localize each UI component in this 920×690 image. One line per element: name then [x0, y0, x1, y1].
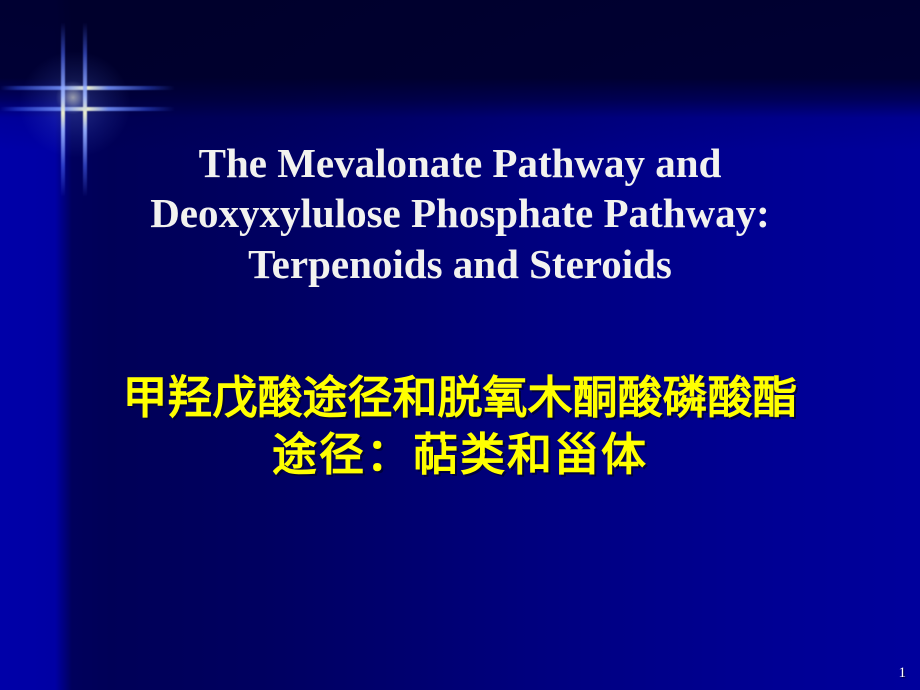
page-number: 1: [899, 665, 907, 682]
presentation-slide: The Mevalonate Pathway and Deoxyxylulose…: [0, 0, 920, 690]
title-chinese-line-2: 途径：萜类和甾体: [0, 427, 920, 484]
title-english-line-3: Terpenoids and Steroids: [18, 239, 902, 289]
title-english-text: The Mevalonate Pathway and Deoxyxylulose…: [0, 138, 920, 289]
slide-title-chinese: 甲羟戊酸途径和脱氧木酮酸磷酸酯 途径：萜类和甾体: [0, 370, 920, 483]
slide-title-english: The Mevalonate Pathway and Deoxyxylulose…: [0, 138, 920, 289]
title-chinese-line-1: 甲羟戊酸途径和脱氧木酮酸磷酸酯: [0, 370, 920, 427]
title-english-line-1: The Mevalonate Pathway and: [18, 138, 902, 188]
slide-background-vertical-gradient: [0, 0, 920, 690]
title-english-line-2: Deoxyxylulose Phosphate Pathway:: [18, 188, 902, 238]
